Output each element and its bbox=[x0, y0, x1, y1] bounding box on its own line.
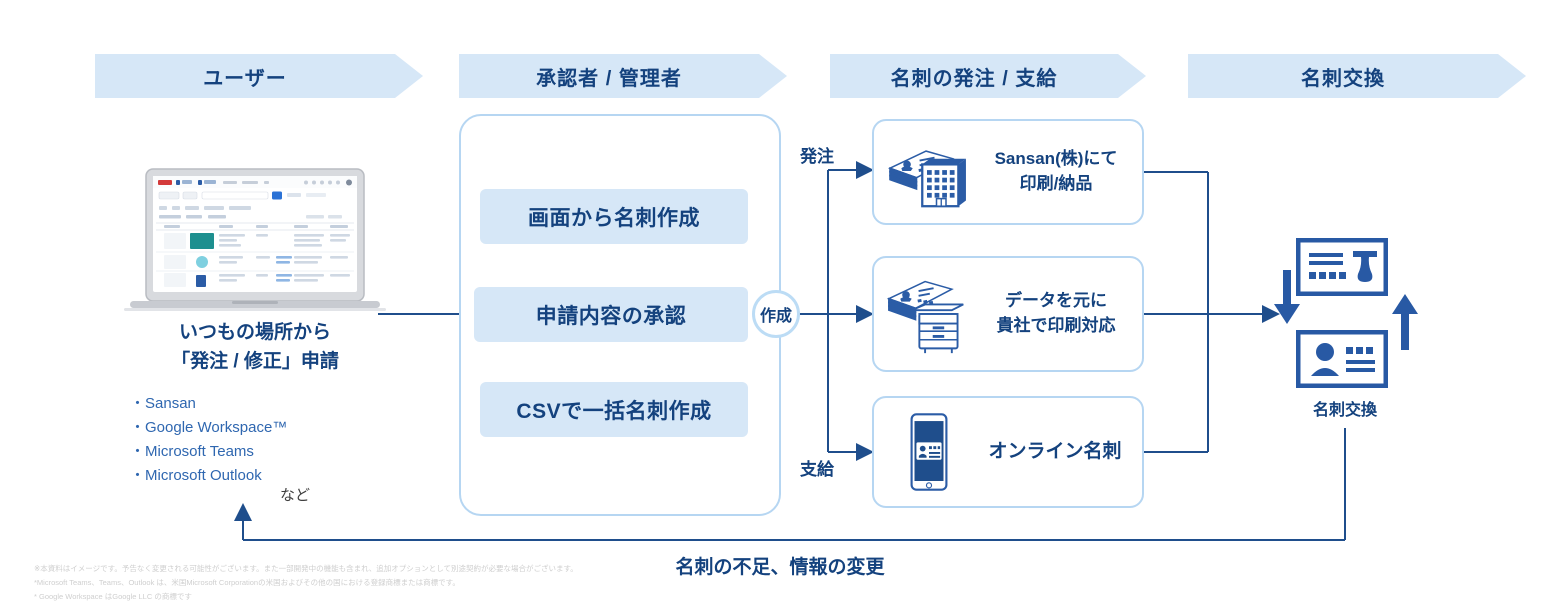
header-banner-order: 名刺の発注 / 支給 bbox=[830, 54, 1118, 98]
create-badge-label: 作成 bbox=[760, 302, 792, 326]
list-item: ・Sansan bbox=[130, 392, 287, 416]
user-channel-list: ・Sansan ・Google Workspace™ ・Microsoft Te… bbox=[130, 392, 287, 488]
footnote-line: * Google Workspace はGoogle LLC の商標です bbox=[34, 590, 578, 604]
approver-item-label: 画面から名刺作成 bbox=[528, 202, 700, 232]
diagram-canvas: ユーザー 承認者 / 管理者 名刺の発注 / 支給 名刺交換 bbox=[0, 0, 1560, 612]
banner-arrow-tip bbox=[1498, 54, 1526, 98]
footnotes: ※本資料はイメージです。予告なく変更される可能性がございます。また一部開発中の機… bbox=[34, 562, 578, 604]
banner-arrow-tip bbox=[395, 54, 423, 98]
approver-item-label: CSVで一括名刺作成 bbox=[516, 395, 711, 425]
order-card-caption: データを元に bbox=[980, 289, 1132, 314]
arrow-down-icon bbox=[1272, 270, 1302, 326]
approver-item-approve-request[interactable]: 申請内容の承認 bbox=[474, 287, 748, 342]
footnote-line: ※本資料はイメージです。予告なく変更される可能性がございます。また一部開発中の機… bbox=[34, 562, 578, 576]
arrow-up-icon bbox=[1390, 292, 1420, 352]
list-item: ・Google Workspace™ bbox=[130, 416, 287, 440]
building-cards-icon bbox=[874, 119, 980, 225]
order-card-caption: オンライン名刺 bbox=[984, 438, 1126, 466]
user-title: いつもの場所から 「発注 / 修正」申請 bbox=[105, 318, 405, 377]
order-card-caption: 貴社で印刷対応 bbox=[980, 314, 1132, 339]
exchange-label: 名刺交換 bbox=[1275, 396, 1415, 420]
list-item: ・Microsoft Teams bbox=[130, 440, 287, 464]
order-card-self-print[interactable]: データを元に 貴社で印刷対応 bbox=[872, 256, 1144, 372]
header-banner-exchange: 名刺交換 bbox=[1188, 54, 1498, 98]
order-card-caption: Sansan(株)にて bbox=[980, 147, 1132, 172]
feedback-caption: 名刺の不足、情報の変更 bbox=[600, 552, 960, 579]
header-banner-approver-label: 承認者 / 管理者 bbox=[536, 62, 682, 91]
laptop-icon bbox=[120, 165, 390, 315]
order-card-online-card[interactable]: オンライン名刺 bbox=[872, 396, 1144, 508]
order-arrow-label-bottom: 支給 bbox=[800, 455, 834, 480]
printer-cards-icon bbox=[874, 256, 980, 372]
header-banner-exchange-label: 名刺交換 bbox=[1301, 62, 1385, 91]
banner-arrow-tip bbox=[1118, 54, 1146, 98]
approver-item-csv-bulk-create[interactable]: CSVで一括名刺作成 bbox=[480, 382, 748, 437]
header-banner-user-label: ユーザー bbox=[203, 62, 287, 91]
approver-item-create-from-screen[interactable]: 画面から名刺作成 bbox=[480, 189, 748, 244]
business-card-person-icon bbox=[1296, 330, 1388, 388]
list-item: ・Microsoft Outlook bbox=[130, 464, 287, 488]
banner-arrow-tip bbox=[759, 54, 787, 98]
order-card-caption: 印刷/納品 bbox=[980, 172, 1132, 197]
header-banner-order-label: 名刺の発注 / 支給 bbox=[891, 62, 1058, 91]
business-card-stamp-icon bbox=[1296, 238, 1388, 296]
user-etc-label: など bbox=[280, 484, 310, 505]
header-banner-user: ユーザー bbox=[95, 54, 395, 98]
smartphone-card-icon bbox=[874, 396, 984, 508]
create-badge: 作成 bbox=[752, 290, 800, 338]
footnote-line: *Microsoft Teams、Teams、Outlook は、米国Micro… bbox=[34, 576, 578, 590]
header-banner-approver: 承認者 / 管理者 bbox=[459, 54, 759, 98]
order-arrow-label-top: 発注 bbox=[800, 142, 834, 167]
user-title-line1: いつもの場所から bbox=[105, 318, 405, 347]
approver-item-label: 申請内容の承認 bbox=[536, 300, 687, 330]
user-title-line2: 「発注 / 修正」申請 bbox=[105, 347, 405, 376]
order-card-sansan-print[interactable]: Sansan(株)にて 印刷/納品 bbox=[872, 119, 1144, 225]
